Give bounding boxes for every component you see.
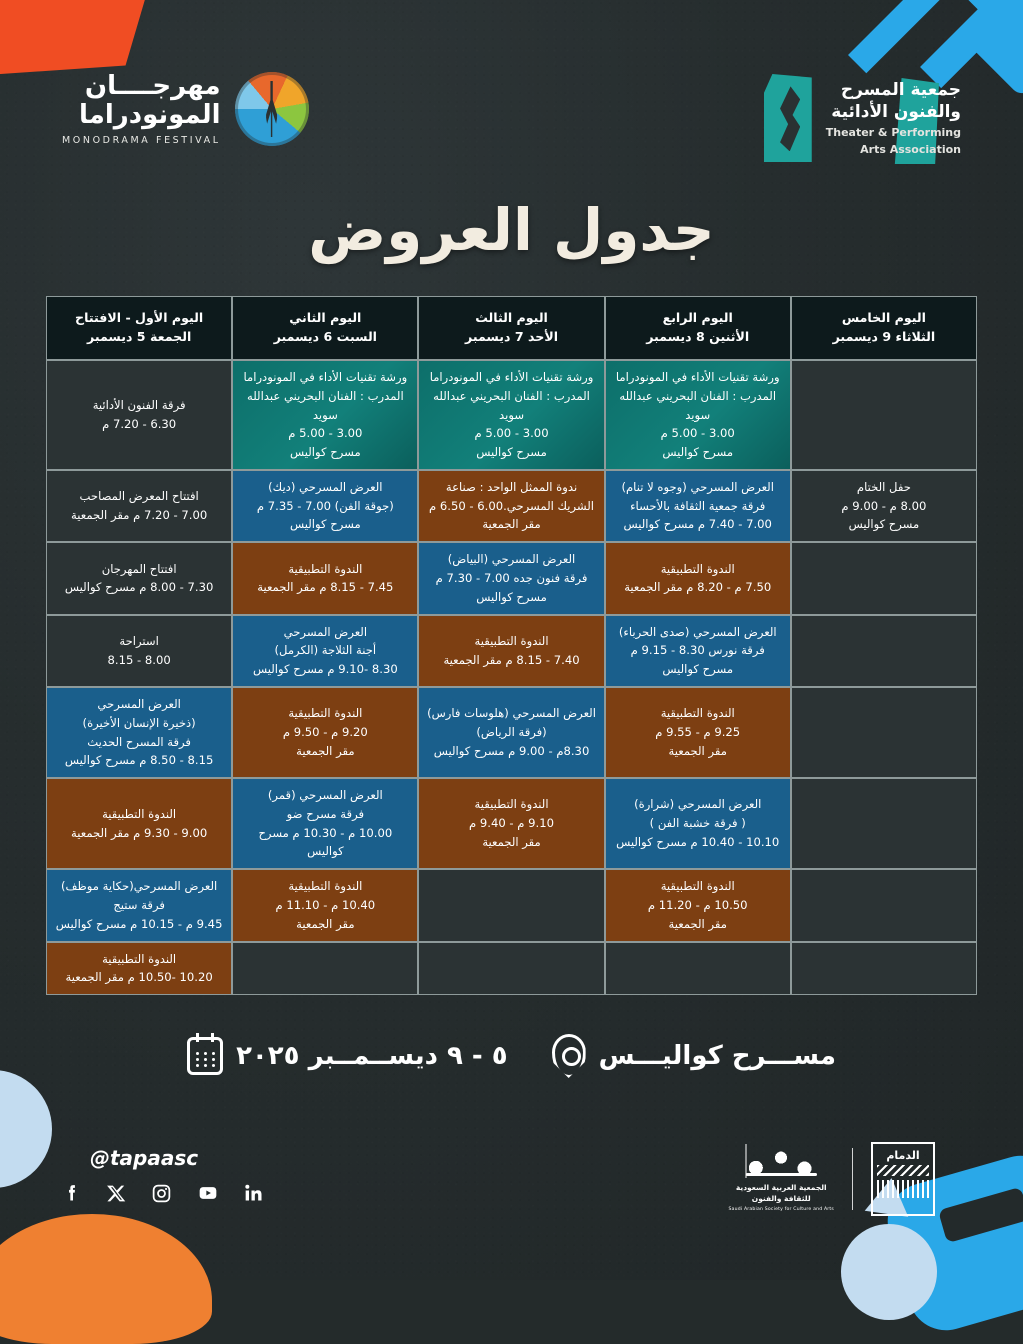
dammam-label: الدمام bbox=[877, 1150, 929, 1161]
location-pin-icon bbox=[552, 1034, 586, 1078]
dammam-pattern-bars bbox=[877, 1180, 929, 1198]
cell-text-line: 8.00 م - 9.00 م bbox=[798, 497, 970, 516]
cell-text-line: المدرب : الفنان البحريني عبدالله سويد bbox=[425, 387, 597, 425]
cell-text-line: 6.30 - 7.20 م bbox=[53, 415, 225, 434]
schedule-cell-r8-c2 bbox=[605, 942, 791, 996]
cell-text-line: 10.10 - 10.40 م مسرح كواليس bbox=[612, 833, 784, 852]
facebook-icon[interactable] bbox=[62, 1182, 82, 1204]
schedule-row: العرض المسرحي (شرارة)( فرقة خشبة الفن )1… bbox=[46, 778, 977, 869]
column-day-label: اليوم الثالث bbox=[425, 309, 597, 328]
cell-text-line: مسرح كواليس bbox=[612, 660, 784, 679]
venue-label: مســـرح كوالیـــس bbox=[599, 1041, 836, 1071]
schedule-cell-r5-c4[interactable]: الندوة التطبيقية9.20 م - 9.50 ممقر الجمع… bbox=[232, 687, 418, 778]
cell-text-line: الندوة التطبيقية bbox=[239, 704, 411, 723]
schedule-cell-r6-c3[interactable]: الندوة التطبيقية9.10 م - 9.40 ممقر الجمع… bbox=[418, 778, 604, 869]
cell-text-line: 9.45 م - 10.15 م مسرح كواليس bbox=[53, 915, 225, 934]
cell-text-line: العرض المسرحي (قمر) bbox=[239, 786, 411, 805]
saudi-culture-society-logo: الجمعية العربية السعودية للثقافة والفنون… bbox=[728, 1144, 834, 1213]
cell-text-line: الشريك المسرحي.6.00 - 6.50 م bbox=[425, 497, 597, 516]
schedule-cell-r1-c4[interactable]: ورشة تقنيات الأداء في المونودراماالمدرب … bbox=[232, 360, 418, 470]
cell-text-line: العرض المسرحي bbox=[239, 623, 411, 642]
column-date-label: الجمعة 5 ديسمبر bbox=[53, 328, 225, 347]
dammam-logo: الدمام bbox=[871, 1142, 935, 1216]
cell-text-line: المدرب : الفنان البحريني عبدالله سويد bbox=[239, 387, 411, 425]
schedule-row: الندوة التطبيقية9.25 م - 9.55 ممقر الجمع… bbox=[46, 687, 977, 778]
cell-text-line: حفل الختام bbox=[798, 478, 970, 497]
cell-text-line: ( فرقة خشبة الفن ) bbox=[612, 814, 784, 833]
cell-text-line: 7.00 - 7.40 م مسرح كواليس bbox=[612, 515, 784, 534]
cell-text-line: 3.00 - 5.00 م bbox=[612, 424, 784, 443]
schedule-cell-r1-c3[interactable]: ورشة تقنيات الأداء في المونودراماالمدرب … bbox=[418, 360, 604, 470]
schedule-header-row: اليوم الخامسالثلاثاء 9 ديسمبراليوم الراب… bbox=[46, 296, 977, 360]
social-block: @tapaasc bbox=[62, 1146, 264, 1204]
cell-text-line: الندوة التطبيقية bbox=[239, 877, 411, 896]
cell-text-line: مسرح كواليس bbox=[425, 443, 597, 462]
schedule-column-header-2: اليوم الرابعالأثنين 8 ديسمبر bbox=[605, 296, 791, 360]
schedule-table-wrapper: اليوم الخامسالثلاثاء 9 ديسمبراليوم الراب… bbox=[46, 296, 977, 995]
cell-text-line: الندوة التطبيقية bbox=[612, 704, 784, 723]
cell-text-line: فرقة ستيج bbox=[53, 896, 225, 915]
column-date-label: الثلاثاء 9 ديسمبر bbox=[798, 328, 970, 347]
schedule-cell-r2-c2[interactable]: العرض المسرحي (وجوه لا تنام)فرقة جمعية ا… bbox=[605, 470, 791, 542]
association-logo: جمعية المسرح والفنون الأدائية Theater & … bbox=[764, 74, 961, 162]
cell-text-line: فرقة المسرح الحديث bbox=[53, 733, 225, 752]
schedule-cell-r3-c5[interactable]: افتتاح المهرجان7.30 - 8.00 م مسرح كواليس bbox=[46, 542, 232, 614]
column-day-label: اليوم الرابع bbox=[612, 309, 784, 328]
cell-text-line: 10.40 م - 11.10 م bbox=[239, 896, 411, 915]
column-date-label: الأثنين 8 ديسمبر bbox=[612, 328, 784, 347]
schedule-cell-r7-c4[interactable]: الندوة التطبيقية10.40 م - 11.10 ممقر الج… bbox=[232, 869, 418, 941]
cell-text-line: العرض المسرحي (ديك) bbox=[239, 478, 411, 497]
schedule-cell-r2-c4[interactable]: العرض المسرحي (ديك)(جوقة الفن) 7.00 - 7.… bbox=[232, 470, 418, 542]
schedule-cell-r4-c3[interactable]: الندوة التطبيقية7.40 - 8.15 م مقر الجمعي… bbox=[418, 615, 604, 687]
cell-text-line: (ذخيرة الإنسان الأخيرة) bbox=[53, 714, 225, 733]
cell-text-line: 9.20 م - 9.50 م bbox=[239, 723, 411, 742]
date-label: ٥ - ٩ ديســمــبر ٢٠٢٥ bbox=[236, 1041, 508, 1071]
cell-text-line: مقر الجمعية bbox=[239, 915, 411, 934]
cell-text-line: الندوة التطبيقية bbox=[239, 560, 411, 579]
cell-text-line: الندوة التطبيقية bbox=[425, 632, 597, 651]
cell-text-line: مسرح كواليس bbox=[612, 443, 784, 462]
cell-text-line: فرقة فنون جده 7.00 - 7.30 م bbox=[425, 569, 597, 588]
cell-text-line: مسرح كواليس bbox=[239, 515, 411, 534]
schedule-column-header-4: اليوم الثانيالسبت 6 ديسمبر bbox=[232, 296, 418, 360]
schedule-table: اليوم الخامسالثلاثاء 9 ديسمبراليوم الراب… bbox=[46, 296, 977, 995]
schedule-cell-r1-c1 bbox=[791, 360, 977, 470]
cell-text-line: العرض المسرحي(حكاية موظف) bbox=[53, 877, 225, 896]
youtube-icon[interactable] bbox=[196, 1183, 220, 1203]
x-twitter-icon[interactable] bbox=[106, 1183, 127, 1204]
logo-divider bbox=[852, 1148, 853, 1210]
association-name-ar-line2: والفنون الأدائية bbox=[826, 101, 961, 123]
schedule-row: حفل الختام8.00 م - 9.00 ممسرح كواليسالعر… bbox=[46, 470, 977, 542]
date-info: ٥ - ٩ ديســمــبر ٢٠٢٥ bbox=[187, 1037, 508, 1075]
schedule-cell-r2-c5[interactable]: افتتاح المعرض المصاحب7.00 - 7.20 م مقر ا… bbox=[46, 470, 232, 542]
schedule-cell-r6-c2[interactable]: العرض المسرحي (شرارة)( فرقة خشبة الفن )1… bbox=[605, 778, 791, 869]
column-date-label: السبت 6 ديسمبر bbox=[239, 328, 411, 347]
column-date-label: الأحد 7 ديسمبر bbox=[425, 328, 597, 347]
schedule-row: الندوة التطبيقية10.20 -10.50 م مقر الجمع… bbox=[46, 942, 977, 996]
cell-text-line: استراحة bbox=[53, 632, 225, 651]
cell-text-line: فرقة الفنون الأدائية bbox=[53, 396, 225, 415]
association-name-ar-line1: جمعية المسرح bbox=[826, 79, 961, 101]
association-emblem-icon bbox=[764, 74, 812, 162]
cell-text-line: مقر الجمعية bbox=[239, 742, 411, 761]
cell-text-line: ندوة الممثل الواحد : صناعة bbox=[425, 478, 597, 497]
cell-text-line: مسرح كواليس bbox=[425, 588, 597, 607]
association-name-en-line1: Theater & Performing bbox=[826, 126, 961, 140]
schedule-column-header-1: اليوم الخامسالثلاثاء 9 ديسمبر bbox=[791, 296, 977, 360]
cell-text-line: مقر الجمعية bbox=[612, 915, 784, 934]
cell-text-line: ورشة تقنيات الأداء في المونودراما bbox=[425, 368, 597, 387]
festival-wordmark: مهرجــــان المونودراما MONODRAMA FESTIVA… bbox=[62, 72, 221, 146]
schedule-row: الندوة التطبيقية7.50 م - 8.20 م مقر الجم… bbox=[46, 542, 977, 614]
cell-text-line: 7.40 - 8.15 م مقر الجمعية bbox=[425, 651, 597, 670]
festival-logo: مهرجــــان المونودراما MONODRAMA FESTIVA… bbox=[62, 72, 309, 146]
event-info-bar: مســـرح كوالیـــس ٥ - ٩ ديســمــبر ٢٠٢٥ bbox=[0, 1034, 1023, 1078]
schedule-cell-r8-c4 bbox=[232, 942, 418, 996]
schedule-row: الندوة التطبيقية10.50 م - 11.20 ممقر الج… bbox=[46, 869, 977, 941]
poster-header: مهرجــــان المونودراما MONODRAMA FESTIVA… bbox=[0, 72, 1023, 180]
cell-text-line: 8.30 -9.10 م مسرح كواليس bbox=[239, 660, 411, 679]
cell-text-line: ورشة تقنيات الأداء في المونودراما bbox=[239, 368, 411, 387]
schedule-cell-r7-c5[interactable]: العرض المسرحي(حكاية موظف)فرقة ستيج9.45 م… bbox=[46, 869, 232, 941]
cell-text-line: 9.10 م - 9.40 م bbox=[425, 814, 597, 833]
festival-name-en: MONODRAMA FESTIVAL bbox=[62, 135, 221, 146]
schedule-cell-r4-c1 bbox=[791, 615, 977, 687]
cell-text-line: 9.00 - 9.30 م مقر الجمعية bbox=[53, 824, 225, 843]
association-wordmark: جمعية المسرح والفنون الأدائية Theater & … bbox=[826, 79, 961, 158]
cell-text-line: مقر الجمعية bbox=[425, 833, 597, 852]
instagram-icon[interactable] bbox=[151, 1183, 172, 1204]
schedule-cell-r8-c1 bbox=[791, 942, 977, 996]
cell-text-line: (جوقة الفن) 7.00 - 7.35 م bbox=[239, 497, 411, 516]
page-title: جدول العروض bbox=[0, 196, 1023, 264]
schedule-cell-r4-c2[interactable]: العرض المسرحي (صدى الحرباء)فرقة نورس 8.3… bbox=[605, 615, 791, 687]
calendar-icon bbox=[187, 1037, 223, 1075]
cell-text-line: العرض المسرحي bbox=[53, 695, 225, 714]
schedule-cell-r5-c1 bbox=[791, 687, 977, 778]
cell-text-line: العرض المسرحي (وجوه لا تنام) bbox=[612, 478, 784, 497]
social-handle: @tapaasc bbox=[90, 1146, 264, 1170]
cell-text-line: مقر الجمعية bbox=[425, 515, 597, 534]
cell-text-line: العرض المسرحي (هلوسات فارس) bbox=[425, 704, 597, 723]
schedule-cell-r1-c2[interactable]: ورشة تقنيات الأداء في المونودراماالمدرب … bbox=[605, 360, 791, 470]
cell-text-line: 9.25 م - 9.55 م bbox=[612, 723, 784, 742]
schedule-body: ورشة تقنيات الأداء في المونودراماالمدرب … bbox=[46, 360, 977, 995]
dammam-pattern-zigzag bbox=[877, 1165, 929, 1176]
sacs-name-ar-line2: للثقافة والفنون bbox=[728, 1194, 834, 1205]
cell-text-line: 10.00 م - 10.30 م مسرح كواليس bbox=[239, 824, 411, 862]
cell-text-line: فرقة جمعية الثقافة بالأحساء bbox=[612, 497, 784, 516]
schedule-cell-r4-c4[interactable]: العرض المسرحيأجنة الثلاجة (الكرمل)8.30 -… bbox=[232, 615, 418, 687]
cell-text-line: الندوة التطبيقية bbox=[53, 805, 225, 824]
cell-text-line: العرض المسرحي (صدى الحرباء) bbox=[612, 623, 784, 642]
cell-text-line: 7.00 - 7.20 م مقر الجمعية bbox=[53, 506, 225, 525]
cell-text-line: الندوة التطبيقية bbox=[53, 950, 225, 969]
cell-text-line: 3.00 - 5.00 م bbox=[425, 424, 597, 443]
cell-text-line: 8.15 - 8.50 م مسرح كواليس bbox=[53, 751, 225, 770]
cell-text-line: 7.45 - 8.15 م مقر الجمعية bbox=[239, 578, 411, 597]
schedule-cell-r7-c2[interactable]: الندوة التطبيقية10.50 م - 11.20 ممقر الج… bbox=[605, 869, 791, 941]
cell-text-line: افتتاح المعرض المصاحب bbox=[53, 487, 225, 506]
festival-name-ar-line2: المونودراما bbox=[62, 101, 221, 130]
cell-text-line: 10.20 -10.50 م مقر الجمعية bbox=[53, 968, 225, 987]
cell-text-line: مسرح كواليس bbox=[798, 515, 970, 534]
cell-text-line: 7.30 - 8.00 م مسرح كواليس bbox=[53, 578, 225, 597]
cell-text-line: مسرح كواليس bbox=[239, 443, 411, 462]
column-day-label: اليوم الثاني bbox=[239, 309, 411, 328]
schedule-cell-r7-c3 bbox=[418, 869, 604, 941]
schedule-column-header-3: اليوم الثالثالأحد 7 ديسمبر bbox=[418, 296, 604, 360]
monodrama-tree-emblem-icon bbox=[235, 72, 309, 146]
schedule-column-header-5: اليوم الأول - الافتتاحالجمعة 5 ديسمبر bbox=[46, 296, 232, 360]
schedule-cell-r6-c4[interactable]: العرض المسرحي (قمر)فرقة مسرح ضو10.00 م -… bbox=[232, 778, 418, 869]
sponsor-logos: الدمام الجمعية العربية السعودية للثقافة … bbox=[728, 1142, 935, 1216]
schedule-header-row-group: اليوم الخامسالثلاثاء 9 ديسمبراليوم الراب… bbox=[46, 296, 977, 360]
cell-text-line: العرض المسرحي (البياض) bbox=[425, 550, 597, 569]
cell-text-line: 8.00 - 8.15 bbox=[53, 651, 225, 670]
cell-text-line: ورشة تقنيات الأداء في المونودراما bbox=[612, 368, 784, 387]
schedule-cell-r3-c2[interactable]: الندوة التطبيقية7.50 م - 8.20 م مقر الجم… bbox=[605, 542, 791, 614]
cell-text-line: 3.00 - 5.00 م bbox=[239, 424, 411, 443]
social-icons bbox=[62, 1182, 264, 1204]
association-name-en-line2: Arts Association bbox=[826, 143, 961, 157]
cell-text-line: الندوة التطبيقية bbox=[612, 560, 784, 579]
schedule-cell-r4-c5[interactable]: استراحة8.00 - 8.15 bbox=[46, 615, 232, 687]
cell-text-line: مقر الجمعية bbox=[612, 742, 784, 761]
cell-text-line: العرض المسرحي (شرارة) bbox=[612, 795, 784, 814]
cell-text-line: الندوة التطبيقية bbox=[425, 795, 597, 814]
column-day-label: اليوم الخامس bbox=[798, 309, 970, 328]
cell-text-line: أجنة الثلاجة (الكرمل) bbox=[239, 641, 411, 660]
schedule-cell-r1-c5[interactable]: فرقة الفنون الأدائية6.30 - 7.20 م bbox=[46, 360, 232, 470]
cell-text-line: الندوة التطبيقية bbox=[612, 877, 784, 896]
schedule-row: العرض المسرحي (صدى الحرباء)فرقة نورس 8.3… bbox=[46, 615, 977, 687]
column-day-label: اليوم الأول - الافتتاح bbox=[53, 309, 225, 328]
linkedin-icon[interactable] bbox=[244, 1183, 264, 1203]
cell-text-line: فرقة نورس 8.30 - 9.15 م bbox=[612, 641, 784, 660]
venue-info: مســـرح كوالیـــس bbox=[552, 1034, 836, 1078]
cell-text-line: افتتاح المهرجان bbox=[53, 560, 225, 579]
schedule-cell-r5-c3[interactable]: العرض المسرحي (هلوسات فارس)(فرقة الرياض)… bbox=[418, 687, 604, 778]
cell-text-line: المدرب : الفنان البحريني عبدالله سويد bbox=[612, 387, 784, 425]
schedule-cell-r8-c5[interactable]: الندوة التطبيقية10.20 -10.50 م مقر الجمع… bbox=[46, 942, 232, 996]
schedule-cell-r2-c1[interactable]: حفل الختام8.00 م - 9.00 ممسرح كواليس bbox=[791, 470, 977, 542]
schedule-cell-r3-c1 bbox=[791, 542, 977, 614]
cell-text-line: 10.50 م - 11.20 م bbox=[612, 896, 784, 915]
schedule-cell-r6-c5[interactable]: الندوة التطبيقية9.00 - 9.30 م مقر الجمعي… bbox=[46, 778, 232, 869]
schedule-row: ورشة تقنيات الأداء في المونودراماالمدرب … bbox=[46, 360, 977, 470]
schedule-cell-r2-c3[interactable]: ندوة الممثل الواحد : صناعةالشريك المسرحي… bbox=[418, 470, 604, 542]
cell-text-line: 7.50 م - 8.20 م مقر الجمعية bbox=[612, 578, 784, 597]
schedule-cell-r5-c2[interactable]: الندوة التطبيقية9.25 م - 9.55 ممقر الجمع… bbox=[605, 687, 791, 778]
sacs-name-en: Saudi Arabian Society for Culture and Ar… bbox=[728, 1207, 834, 1213]
schedule-cell-r7-c1 bbox=[791, 869, 977, 941]
cell-text-line: (فرقة الرياض) bbox=[425, 723, 597, 742]
schedule-cell-r3-c3[interactable]: العرض المسرحي (البياض)فرقة فنون جده 7.00… bbox=[418, 542, 604, 614]
sacs-emblem-icon bbox=[739, 1144, 823, 1178]
schedule-cell-r6-c1 bbox=[791, 778, 977, 869]
cell-text-line: فرقة مسرح ضو bbox=[239, 805, 411, 824]
schedule-cell-r8-c3 bbox=[418, 942, 604, 996]
schedule-cell-r5-c5[interactable]: العرض المسرحي(ذخيرة الإنسان الأخيرة)فرقة… bbox=[46, 687, 232, 778]
festival-name-ar-line1: مهرجــــان bbox=[62, 72, 221, 101]
sacs-name-ar-line1: الجمعية العربية السعودية bbox=[728, 1183, 834, 1194]
cell-text-line: 8.30م - 9.00 م مسرح كواليس bbox=[425, 742, 597, 761]
schedule-cell-r3-c4[interactable]: الندوة التطبيقية7.45 - 8.15 م مقر الجمعي… bbox=[232, 542, 418, 614]
